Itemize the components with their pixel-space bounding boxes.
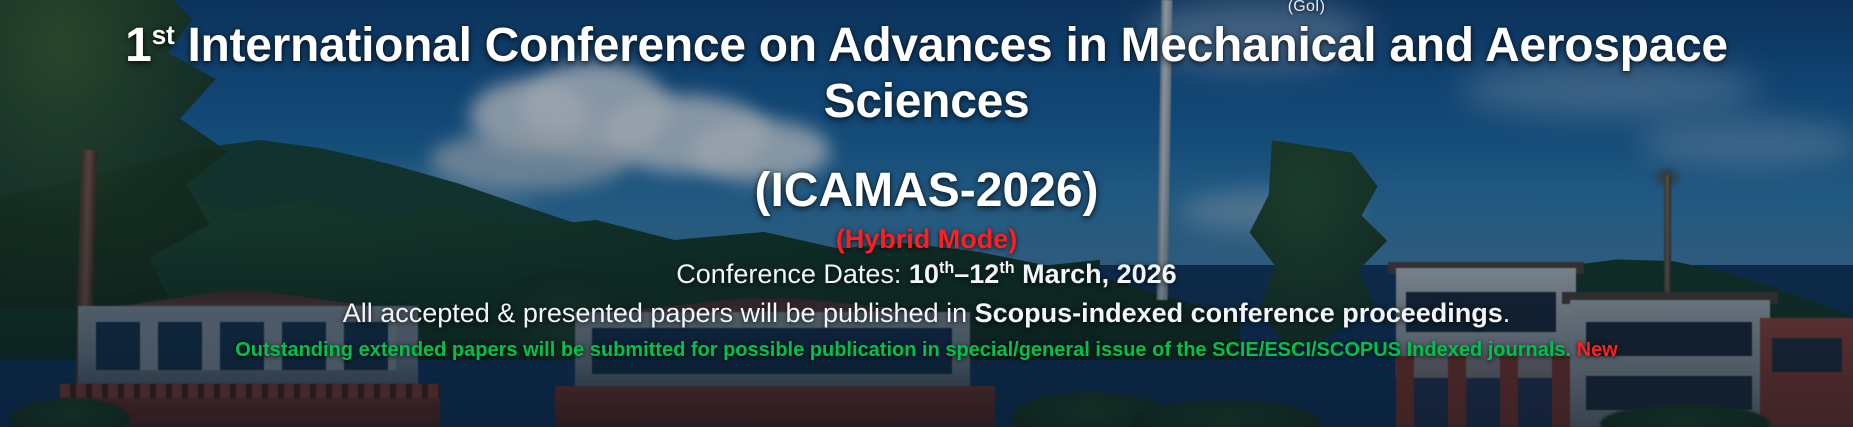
dates-day-end: 12 bbox=[969, 259, 999, 289]
publication-prefix: All accepted & presented papers will be … bbox=[343, 298, 975, 328]
conference-acronym: (ICAMAS-2026) bbox=[754, 163, 1098, 219]
title-ordinal-number: 1 bbox=[125, 19, 151, 72]
title-main-text: International Conference on Advances in … bbox=[174, 19, 1727, 72]
extended-papers-text: Outstanding extended papers will be subm… bbox=[235, 339, 1571, 361]
conference-mode-badge: (Hybrid Mode) bbox=[836, 224, 1018, 255]
publication-emphasis: Scopus-indexed conference proceedings bbox=[975, 298, 1503, 328]
dates-day-start-ordinal: th bbox=[939, 259, 954, 277]
extended-papers-note: Outstanding extended papers will be subm… bbox=[235, 339, 1618, 362]
page-title: 1st International Conference on Advances… bbox=[22, 18, 1832, 129]
conference-banner: (GoI) 1st International Conference on Ad… bbox=[0, 0, 1853, 427]
title-second-line: Sciences bbox=[824, 75, 1030, 128]
dates-day-start: 10 bbox=[909, 259, 939, 289]
dates-day-end-ordinal: th bbox=[999, 259, 1014, 277]
conference-dates: Conference Dates: 10th–12th March, 2026 bbox=[676, 259, 1176, 290]
dates-month-year: March, 2026 bbox=[1015, 259, 1177, 289]
dates-separator: – bbox=[954, 259, 969, 289]
banner-content: (GoI) 1st International Conference on Ad… bbox=[0, 0, 1853, 427]
publication-note: All accepted & presented papers will be … bbox=[343, 298, 1511, 329]
publication-suffix: . bbox=[1503, 298, 1511, 328]
title-ordinal-suffix: st bbox=[152, 20, 175, 50]
affiliation-note: (GoI) bbox=[380, 0, 1853, 16]
dates-label: Conference Dates: bbox=[676, 259, 909, 289]
new-badge: New bbox=[1571, 339, 1618, 361]
